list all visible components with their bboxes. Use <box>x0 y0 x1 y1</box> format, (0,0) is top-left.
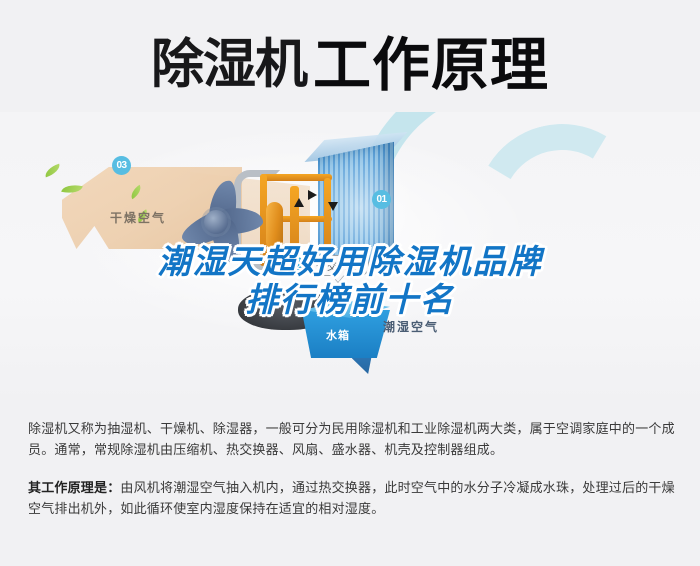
paragraph-one: 除湿机又称为抽湿机、干燥机、除湿器，一般可分为民用除湿机和工业除湿机两大类，属于… <box>28 418 676 460</box>
page-title: 除湿机工作原理 <box>0 18 700 110</box>
fan-hub <box>204 210 228 234</box>
article-body: 除湿机又称为抽湿机、干燥机、除湿器，一般可分为民用除湿机和工业除湿机两大类，属于… <box>28 418 676 519</box>
flow-arrow-down-icon <box>328 202 338 211</box>
coil-pipe <box>324 178 331 264</box>
refrigerant-cylinder <box>266 202 283 250</box>
title-part-two: 工作原理 <box>313 31 549 99</box>
dehumidifier-diagram: 水箱 03 干燥空气 02 热交换器 01 潮湿空气 02 经过蒸发器冷凝成水珠… <box>0 112 700 402</box>
label-heat-exchanger: 热交换器 <box>307 255 369 276</box>
paragraph-two-lead: 其工作原理是： <box>28 480 120 495</box>
coil-pipe <box>260 174 332 181</box>
infographic-page: 除湿机工作原理 <box>0 0 700 566</box>
paragraph-two: 其工作原理是：由风机将潮湿空气抽入机内，通过热交换器，此时空气中的水分子冷凝成水… <box>28 477 676 519</box>
label-dry-air: 干燥空气 <box>110 209 166 226</box>
water-tank: 水箱 <box>296 300 392 362</box>
label-humid-air: 潮湿空气 <box>383 318 439 335</box>
badge-02-heat-exchanger: 02 <box>287 257 306 276</box>
fan-blades <box>168 174 264 270</box>
flow-arrow-up-icon <box>294 198 304 207</box>
badge-03-dry-air: 03 <box>112 156 131 175</box>
title-part-one: 除湿机 <box>151 34 307 95</box>
flow-arrow-right-icon <box>308 190 317 200</box>
water-tank-label: 水箱 <box>326 327 350 343</box>
badge-01-humid-air: 01 <box>372 190 391 209</box>
paragraph-two-rest: 由风机将潮湿空气抽入机内，通过热交换器，此时空气中的水分子冷凝成水珠，处理过后的… <box>28 480 675 516</box>
